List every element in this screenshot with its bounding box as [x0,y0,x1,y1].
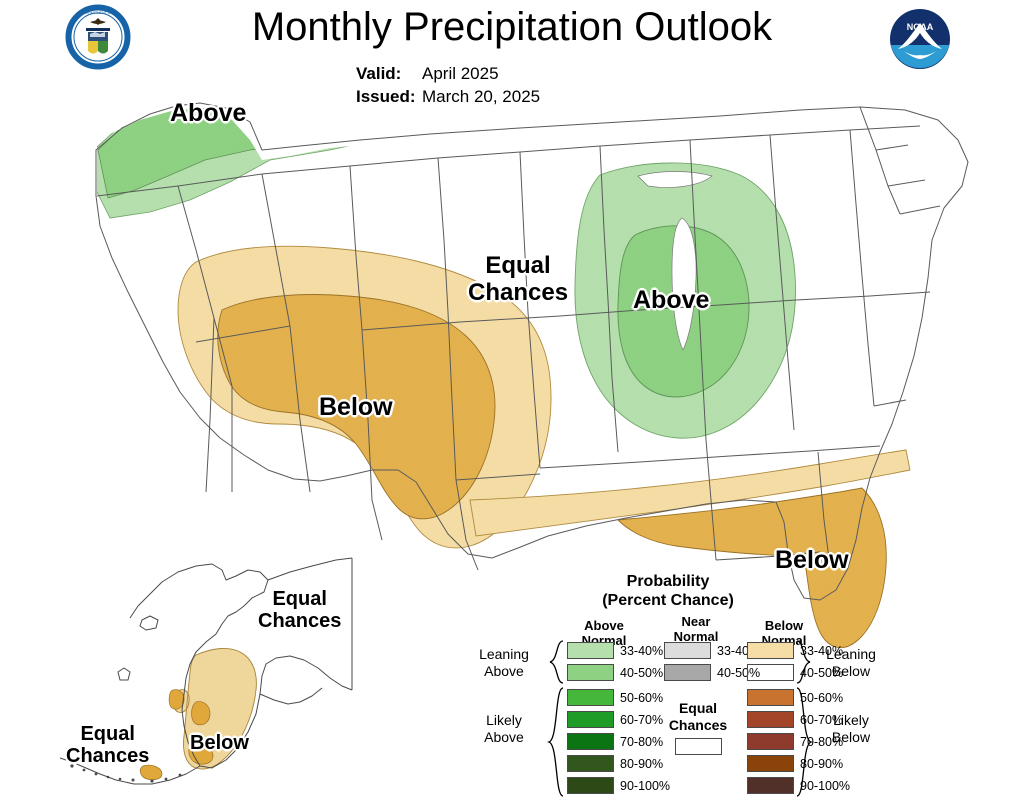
legend-head-near-line1: Near [658,614,734,629]
issued-label: Issued: [356,85,422,108]
outlook-metadata: Valid:April 2025 Issued:March 20, 2025 [356,62,540,108]
legend-color-above-40-50 [567,664,614,681]
legend-swatch-above-90-100: 90-100% [567,777,670,795]
legend-swatch-near-33-40: 33-40% [664,642,760,660]
map-label-central-line2: Chances [468,280,568,307]
legend-swatch-above-60-70: 60-70% [567,711,663,729]
legend-column-head-near-normal: Near Normal [658,614,734,644]
legend-likely-above-line2: Above [464,729,544,746]
legend-side-likely-below: Likely Below [812,712,890,746]
map-label-central-line1: Equal [485,252,550,279]
valid-row: Valid:April 2025 [356,62,540,85]
legend-color-below-33-40 [747,642,794,659]
issued-value: March 20, 2025 [422,87,540,106]
map-label-midwest: Above [633,286,709,314]
legend-range-above-60-70: 60-70% [620,713,663,727]
map-label-alaska-ne-line1: Equal [272,588,326,610]
legend-color-near-33-40 [664,642,711,659]
map-label-pacific-northwest: Above [170,99,246,127]
legend-color-below-90-100 [747,777,794,794]
legend-swatch-near-40-50: 40-50% [664,664,760,682]
legend-title-line1: Probability [462,572,874,591]
legend-leaning-below-line2: Below [812,663,890,680]
legend-equal-chances: Equal Chances [658,700,738,755]
legend-color-above-90-100 [567,777,614,794]
map-label-alaska-southwest: Equal Chances [66,723,149,768]
legend-swatch-above-33-40: 33-40% [567,642,663,660]
map-label-alaska-sw-line1: Equal [80,723,134,745]
legend-leaning-above-line1: Leaning [464,646,544,663]
page-title: Monthly Precipitation Outlook [0,5,1024,49]
legend-range-above-40-50: 40-50% [620,666,663,680]
brace-leaning-below [796,640,814,684]
map-label-alaska-ne-line2: Chances [258,610,341,632]
map-label-southwest: Below [319,393,393,421]
legend-title-line2: (Percent Chance) [462,591,874,610]
legend-title: Probability (Percent Chance) [462,572,874,610]
legend-swatch-above-50-60: 50-60% [567,689,663,707]
valid-value: April 2025 [422,64,499,83]
legend-range-above-33-40: 33-40% [620,644,663,658]
legend-color-above-50-60 [567,689,614,706]
legend-color-below-80-90 [747,755,794,772]
legend-color-above-60-70 [567,711,614,728]
legend-likely-above-line1: Likely [464,712,544,729]
legend-swatch-above-80-90: 80-90% [567,755,663,773]
legend-range-above-70-80: 70-80% [620,735,663,749]
legend-leaning-below-line1: Leaning [812,646,890,663]
map-label-central-equal-chances: Equal Chances [468,253,568,307]
legend-range-above-50-60: 50-60% [620,691,663,705]
legend-likely-below-line1: Likely [812,712,890,729]
legend: Probability (Percent Chance) Above Norma… [462,572,874,791]
legend-leaning-above-line2: Above [464,663,544,680]
legend-likely-below-line2: Below [812,729,890,746]
legend-side-leaning-above: Leaning Above [464,646,544,680]
valid-label: Valid: [356,62,422,85]
map-label-florida: Below [775,546,849,574]
brace-leaning-above [546,640,564,684]
legend-head-above-line1: Above [562,618,646,633]
legend-color-near-40-50 [664,664,711,681]
legend-color-below-60-70 [747,711,794,728]
legend-color-above-80-90 [567,755,614,772]
brace-likely-above [546,687,564,797]
brace-likely-below [796,687,814,797]
map-label-alaska-sw-line2: Chances [66,745,149,767]
legend-side-leaning-below: Leaning Below [812,646,890,680]
legend-side-likely-above: Likely Above [464,712,544,746]
legend-swatch-above-70-80: 70-80% [567,733,663,751]
legend-swatch-above-40-50: 40-50% [567,664,663,682]
legend-color-below-50-60 [747,689,794,706]
svg-text:UNITED STATES: UNITED STATES [85,63,112,67]
legend-equal-chances-line1: Equal [658,700,738,717]
legend-color-below-40-50 [747,664,794,681]
map-label-alaska-below: Below [190,732,249,754]
legend-color-equal-chances [675,738,722,755]
legend-head-below-line1: Below [742,618,826,633]
legend-color-below-70-80 [747,733,794,750]
issued-row: Issued:March 20, 2025 [356,85,540,108]
legend-range-above-80-90: 80-90% [620,757,663,771]
legend-color-above-70-80 [567,733,614,750]
map-label-alaska-northeast: Equal Chances [258,588,341,633]
legend-color-above-33-40 [567,642,614,659]
legend-equal-chances-line2: Chances [658,717,738,734]
